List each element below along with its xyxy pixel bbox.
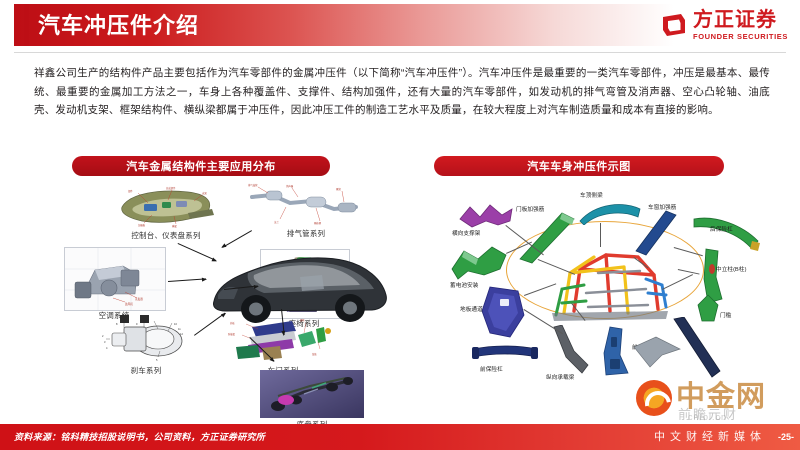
part-wing-bracket bbox=[632, 333, 682, 371]
svg-text:10: 10 bbox=[174, 322, 177, 326]
svg-text:9: 9 bbox=[136, 322, 138, 326]
page-title: 汽车冲压件介绍 bbox=[38, 10, 199, 42]
part-a-pillar bbox=[598, 325, 634, 381]
svg-text:5: 5 bbox=[156, 358, 158, 362]
svg-text:4: 4 bbox=[106, 346, 108, 350]
svg-text:11: 11 bbox=[178, 327, 181, 331]
part-front-bumper bbox=[470, 343, 540, 365]
label-battery-mount: 蓄电池安装 bbox=[450, 281, 478, 289]
slide-header: 汽车冲压件介绍 方正证券 FOUNDER SECURITIES bbox=[0, 0, 800, 50]
svg-text:3: 3 bbox=[104, 340, 106, 344]
svg-text:支架: 支架 bbox=[202, 191, 207, 195]
header-accent-bar-1 bbox=[14, 4, 19, 46]
footer-media-brand: 中文财经新媒体 bbox=[654, 428, 766, 444]
label-cross-brace: 横向支撑架 bbox=[452, 229, 480, 237]
left-panel-title: 汽车金属结构件主要应用分布 bbox=[72, 156, 330, 176]
thumb-brake: 101112 234 589 bbox=[98, 313, 194, 365]
right-diagram: 横向支撑架 门板加强筋 车顶侧梁 车窗加强筋 bbox=[420, 185, 784, 410]
source-note: 资料来源：铭科精技招股说明书，公司资料，方正证券研究所 bbox=[14, 430, 265, 443]
svg-text:部件: 部件 bbox=[128, 189, 133, 193]
svg-text:蒸发器: 蒸发器 bbox=[135, 297, 143, 301]
part-door-reinforcement bbox=[516, 209, 580, 265]
thumb-hvac: 蒸发器 鼓风机 bbox=[64, 247, 166, 311]
slide-root: 汽车冲压件介绍 方正证券 FOUNDER SECURITIES 祥鑫公司生产的结… bbox=[0, 0, 800, 450]
logo-english-name: FOUNDER SECURITIES bbox=[693, 33, 788, 41]
label-window-reinforcement: 车窗加强筋 bbox=[648, 203, 676, 211]
svg-text:加强板: 加强板 bbox=[138, 223, 146, 227]
label-floor-tunnel: 地板通道 bbox=[460, 305, 483, 313]
part-battery-mount bbox=[448, 241, 510, 281]
svg-text:铰链: 铰链 bbox=[312, 352, 317, 356]
part-floor-tunnel bbox=[476, 285, 532, 341]
label-front-bumper: 前保险杠 bbox=[480, 365, 503, 373]
svg-text:排气歧管: 排气歧管 bbox=[248, 183, 258, 187]
svg-text:2: 2 bbox=[102, 334, 104, 338]
right-panel-title: 汽车车身冲压件示图 bbox=[434, 156, 724, 176]
label-door-reinforcement: 门板加强筋 bbox=[516, 205, 544, 213]
thumb-chassis bbox=[260, 370, 364, 418]
company-logo: 方正证券 FOUNDER SECURITIES bbox=[661, 8, 788, 42]
svg-text:防撞梁: 防撞梁 bbox=[228, 332, 236, 336]
header-divider bbox=[14, 52, 786, 53]
header-accent-bar-2 bbox=[24, 4, 29, 46]
label-b-pillar: 中立柱(B柱) bbox=[716, 265, 747, 273]
watermark-domain: cnfol.cn bbox=[688, 412, 727, 422]
caption-console: 控制台、仪表盘系列 bbox=[114, 230, 218, 241]
page-number: -25- bbox=[778, 432, 794, 442]
svg-text:横梁: 横梁 bbox=[172, 224, 177, 228]
label-roof-rail: 车顶侧梁 bbox=[580, 191, 603, 199]
svg-text:消声器: 消声器 bbox=[286, 184, 294, 188]
svg-text:8: 8 bbox=[116, 322, 118, 326]
thumb-console: 部件总成部件支架 加强板横梁 bbox=[114, 185, 218, 229]
logo-text-block: 方正证券 FOUNDER SECURITIES bbox=[693, 10, 788, 41]
part-longitudinal-member bbox=[548, 325, 592, 375]
left-diagram: 部件总成部件支架 加强板横梁 控制台、仪表盘系列 排气歧管消声器尾管 bbox=[36, 185, 396, 420]
label-rear-bumper: 后保险杠 bbox=[710, 225, 733, 233]
svg-text:12: 12 bbox=[180, 332, 183, 336]
svg-text:法兰: 法兰 bbox=[274, 220, 279, 224]
svg-text:鼓风机: 鼓风机 bbox=[125, 302, 133, 306]
leader-roof-rail bbox=[600, 223, 603, 247]
founder-logo-icon bbox=[661, 12, 687, 38]
svg-text:隔热罩: 隔热罩 bbox=[314, 221, 322, 225]
svg-text:总成部件: 总成部件 bbox=[166, 186, 176, 190]
arrow-hvac-to-car bbox=[168, 278, 206, 282]
label-longitudinal-member: 纵向承载梁 bbox=[546, 373, 574, 381]
intro-paragraph: 祥鑫公司生产的结构件产品主要包括作为汽车零部件的金属冲压件（以下简称“汽车冲压件… bbox=[34, 64, 770, 120]
part-window-reinforcement bbox=[632, 209, 682, 259]
car-illustration bbox=[204, 237, 394, 325]
svg-text:尾管: 尾管 bbox=[336, 187, 341, 191]
thumb-exhaust: 排气歧管消声器尾管 法兰隔热罩 bbox=[246, 183, 366, 225]
part-green-bracket bbox=[692, 293, 726, 325]
caption-brake: 刹车系列 bbox=[98, 365, 194, 376]
logo-chinese-name: 方正证券 bbox=[693, 10, 777, 30]
